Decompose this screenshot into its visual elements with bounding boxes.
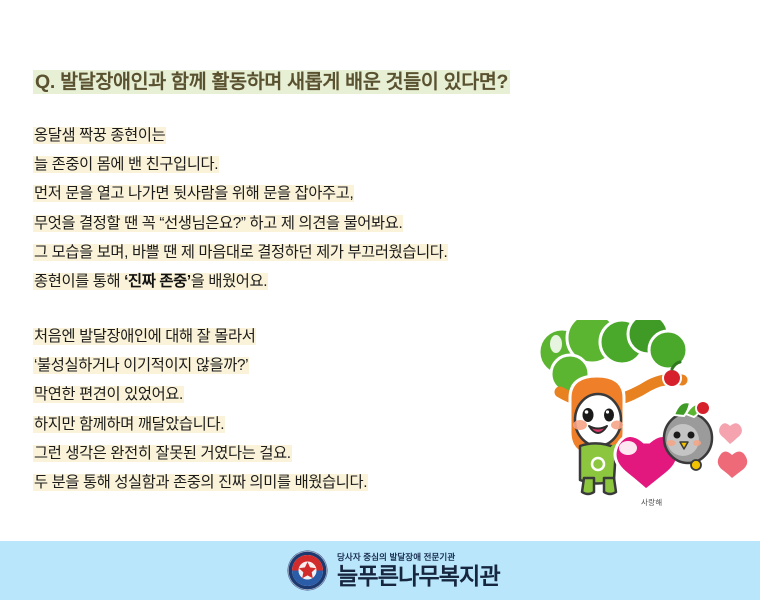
question-text: Q. 발달장애인과 함께 활동하며 새롭게 배운 것들이 있다면?: [33, 70, 510, 94]
body-line-text: 두 분을 통해 성실함과 존중의 진짜 의미를 배웠습니다.: [33, 474, 368, 491]
emphasis-text: ‘진짜 존중’: [124, 273, 191, 290]
organization-logo-icon: [287, 550, 328, 591]
footer-tagline: 당사자 중심의 발달장애 전문기관: [337, 553, 500, 562]
paragraph-1: 옹달샘 짝꿍 종현이는늘 존중이 몸에 밴 친구입니다.먼저 문을 열고 나가면…: [33, 124, 653, 294]
body-line-text: 하지만 함께하며 깨달았습니다.: [33, 416, 225, 433]
slide-root: Q. 발달장애인과 함께 활동하며 새롭게 배운 것들이 있다면? 옹달샘 짝꿍…: [0, 0, 760, 600]
body-line-text: 종현이를 통해 ‘진짜 존중’을 배웠어요.: [33, 273, 268, 290]
body-line-text: 무엇을 결정할 땐 꼭 “선생님은요?” 하고 제 의견을 물어봐요.: [33, 215, 403, 232]
body-line-text: 먼저 문을 열고 나가면 뒷사람을 위해 문을 잡아주고,: [33, 185, 354, 202]
body-line: 먼저 문을 열고 나가면 뒷사람을 위해 문을 잡아주고,: [33, 182, 653, 206]
question-heading: Q. 발달장애인과 함께 활동하며 새롭게 배운 것들이 있다면?: [33, 69, 510, 95]
small-hearts-icon: [718, 423, 747, 478]
footer-text: 당사자 중심의 발달장애 전문기관 늘푸른나무복지관: [337, 553, 500, 588]
body-line-text: 그 모습을 보며, 바쁠 땐 제 마음대로 결정하던 제가 부끄러웠습니다.: [33, 244, 448, 261]
body-line-text: ‘불성실하거나 이기적이지 않을까?’: [33, 357, 249, 374]
body-line: 그 모습을 보며, 바쁠 땐 제 마음대로 결정하던 제가 부끄러웠습니다.: [33, 241, 653, 265]
body-line-text: 늘 존중이 몸에 밴 친구입니다.: [33, 156, 219, 173]
body-line-text: 그런 생각은 완전히 잘못된 거였다는 걸요.: [33, 445, 292, 462]
footer-organization-name: 늘푸른나무복지관: [337, 565, 500, 588]
footer-branding: 당사자 중심의 발달장애 전문기관 늘푸른나무복지관: [287, 550, 500, 591]
mascot-illustration: [540, 320, 760, 525]
body-line-text: 막연한 편견이 있었어요.: [33, 386, 184, 403]
body-line: 종현이를 통해 ‘진짜 존중’을 배웠어요.: [33, 270, 653, 294]
body-line-text: 처음엔 발달장애인에 대해 잘 몰라서: [33, 328, 256, 345]
mascot-caption: 사랑해: [641, 497, 662, 508]
body-line: 옹달샘 짝꿍 종현이는: [33, 124, 653, 148]
footer-band: 당사자 중심의 발달장애 전문기관 늘푸른나무복지관: [0, 541, 760, 600]
body-line-text: 옹달샘 짝꿍 종현이는: [33, 127, 166, 144]
body-line: 늘 존중이 몸에 밴 친구입니다.: [33, 153, 653, 177]
body-line: 무엇을 결정할 땐 꼭 “선생님은요?” 하고 제 의견을 물어봐요.: [33, 212, 653, 236]
